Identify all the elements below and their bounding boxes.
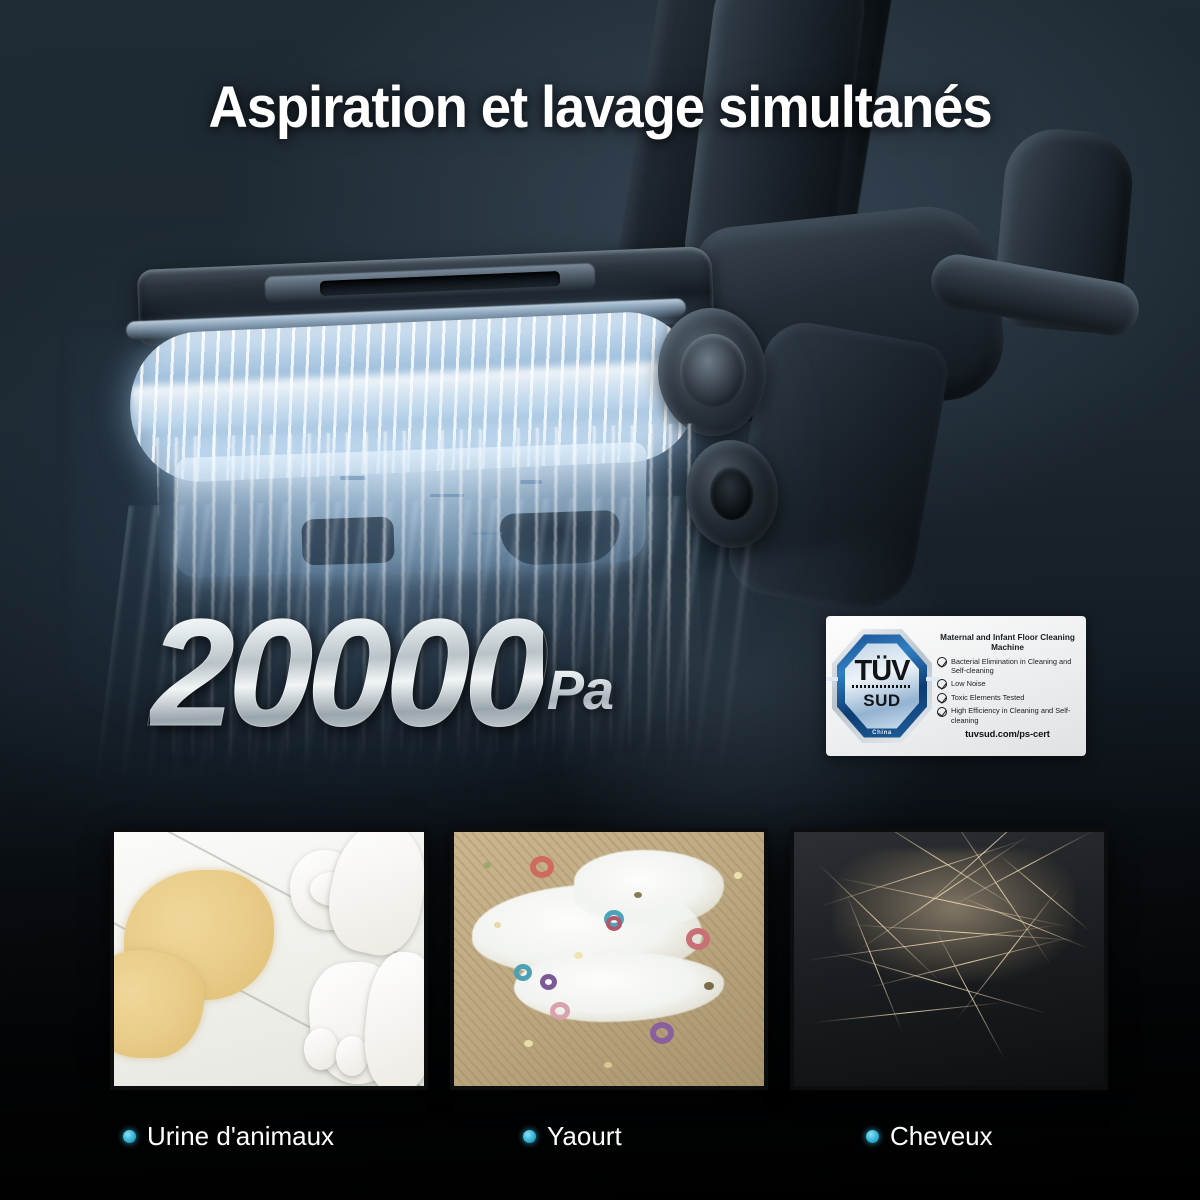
tuv-sud-label: SUD [830, 691, 934, 711]
roller-end-cap-hub [680, 334, 746, 408]
tuv-feature-label: Toxic Elements Tested [951, 693, 1024, 702]
vacuum-handle-grip [992, 125, 1137, 335]
cereal-crumb [734, 872, 742, 879]
cereal-crumb [524, 1040, 533, 1047]
caption-yogurt: Yaourt [523, 1121, 622, 1152]
cereal-loop [540, 974, 557, 990]
check-icon [937, 657, 947, 667]
cereal-loop [514, 964, 532, 981]
caption-label: Cheveux [890, 1121, 993, 1152]
suction-power-spec: 20000 Pa [150, 604, 613, 744]
cereal-crumb [494, 922, 501, 928]
tuv-feature-list: Bacterial Elimination in Cleaning and Se… [937, 657, 1078, 725]
caption-label: Urine d'animaux [147, 1121, 334, 1152]
bullet-dot-icon [123, 1130, 136, 1143]
cereal-loop [606, 916, 622, 931]
page-title: Aspiration et lavage simultanés [36, 74, 1164, 141]
showcase-photo-yogurt [450, 828, 768, 1090]
list-item: Low Noise [937, 679, 1078, 690]
product-marketing-banner: Aspiration et lavage simultanés 20000 Pa [0, 0, 1200, 1200]
list-item: Bacterial Elimination in Cleaning and Se… [937, 657, 1078, 676]
side-wheel-hub [710, 466, 754, 520]
milk-spill [574, 850, 724, 924]
dog-paw-toe [336, 1036, 368, 1076]
showcase-photo-hair [790, 828, 1108, 1090]
tuv-logo-icon: TÜV SUD China [830, 627, 934, 745]
bullet-dot-icon [866, 1130, 879, 1143]
floor-cleaner-head-illustration [120, 250, 760, 590]
cereal-crumb [634, 892, 642, 898]
check-icon [937, 707, 947, 717]
check-icon [937, 679, 947, 689]
tuv-rule-divider [852, 685, 912, 688]
tuv-badge-text: Maternal and Infant Floor Cleaning Machi… [934, 633, 1080, 739]
dog-paw-toe [304, 1028, 338, 1070]
list-item: Toxic Elements Tested [937, 693, 1078, 704]
suction-power-unit: Pa [547, 657, 614, 722]
tuv-feature-label: Low Noise [951, 679, 986, 688]
cereal-crumb [704, 982, 714, 990]
caption-hair: Cheveux [866, 1121, 993, 1152]
cereal-crumb [574, 952, 583, 959]
caption-urine: Urine d'animaux [123, 1121, 334, 1152]
cereal-loop [550, 1002, 570, 1020]
cereal-loop [650, 1022, 674, 1044]
check-icon [937, 693, 947, 703]
tuv-region-label: China [830, 730, 934, 736]
bullet-dot-icon [523, 1130, 536, 1143]
tuv-certification-badge: TÜV SUD China Maternal and Infant Floor … [826, 616, 1086, 756]
cereal-loop [686, 928, 710, 950]
showcase-photo-urine [110, 828, 428, 1090]
caption-label: Yaourt [547, 1121, 622, 1152]
tuv-wordmark: TÜV [830, 657, 934, 686]
cereal-loop [530, 856, 554, 878]
tuv-feature-label: High Efficiency in Cleaning and Self-cle… [951, 706, 1078, 725]
cereal-crumb [604, 1062, 612, 1068]
cereal-crumb [484, 862, 491, 868]
tuv-feature-label: Bacterial Elimination in Cleaning and Se… [951, 657, 1078, 676]
tuv-badge-title: Maternal and Infant Floor Cleaning Machi… [937, 633, 1078, 653]
list-item: High Efficiency in Cleaning and Self-cle… [937, 706, 1078, 725]
suction-power-value: 20000 [150, 604, 543, 744]
tuv-certificate-url: tuvsud.com/ps-cert [937, 728, 1078, 739]
vacuum-handle-arm [927, 250, 1143, 340]
